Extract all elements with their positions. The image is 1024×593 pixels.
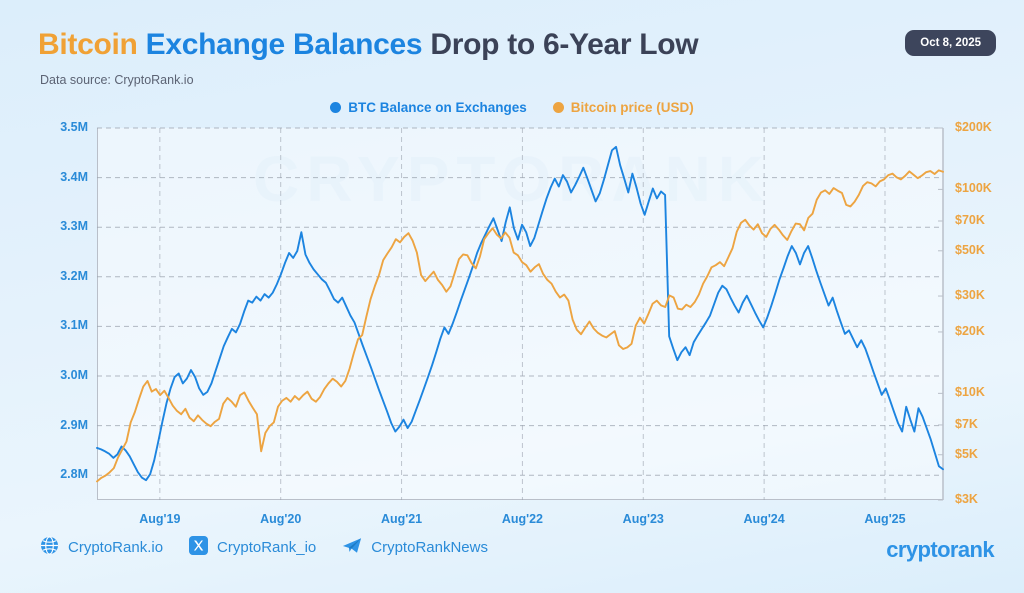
y-axis-right-tick: $5K	[955, 447, 978, 461]
y-axis-right-tick: $70K	[955, 213, 985, 227]
y-axis-right-tick: $20K	[955, 324, 985, 338]
chart-area: CRYPTORANK 2.8M2.9M3.0M3.1M3.2M3.3M3.4M3…	[0, 0, 1024, 593]
footer-link-telegram[interactable]: CryptoRankNews	[342, 536, 488, 559]
telegram-icon	[342, 536, 362, 559]
x-axis-tick: Aug'20	[236, 512, 326, 526]
y-axis-left-tick: 2.8M	[30, 467, 88, 481]
series-lines	[97, 147, 943, 482]
y-axis-right-tick: $50K	[955, 243, 985, 257]
series-line-bitcoin-price	[97, 170, 943, 481]
y-axis-right-tick: $3K	[955, 492, 978, 506]
y-axis-left-tick: 3.3M	[30, 219, 88, 233]
x-axis-tick: Aug'23	[598, 512, 688, 526]
x-axis-tick: Aug'25	[840, 512, 930, 526]
y-axis-right-tick: $7K	[955, 417, 978, 431]
footer-link-website[interactable]: CryptoRank.io	[40, 536, 163, 559]
y-axis-left-tick: 3.0M	[30, 368, 88, 382]
x-axis-tick: Aug'19	[115, 512, 205, 526]
y-axis-left-tick: 3.1M	[30, 318, 88, 332]
y-axis-left-tick: 3.4M	[30, 170, 88, 184]
x-axis-tick: Aug'24	[719, 512, 809, 526]
footer-link-twitter[interactable]: CryptoRank_io	[189, 536, 316, 559]
infographic-card: Bitcoin Exchange Balances Drop to 6-Year…	[0, 0, 1024, 593]
footer-links: CryptoRank.io CryptoRank_io CryptoRankNe…	[40, 536, 488, 559]
gridlines	[97, 128, 943, 500]
x-axis-tick: Aug'21	[357, 512, 447, 526]
footer-label-telegram: CryptoRankNews	[371, 539, 488, 556]
y-axis-right-tick: $100K	[955, 181, 992, 195]
y-axis-left-tick: 3.2M	[30, 269, 88, 283]
y-axis-right-tick: $30K	[955, 288, 985, 302]
footer-label-website: CryptoRank.io	[68, 539, 163, 556]
cryptorank-logo: cryptorank	[886, 537, 994, 563]
globe-icon	[40, 536, 59, 559]
y-axis-left-tick: 2.9M	[30, 418, 88, 432]
x-axis-tick: Aug'22	[477, 512, 567, 526]
y-axis-right-tick: $200K	[955, 120, 992, 134]
series-line-btc-balance	[97, 147, 943, 480]
footer-label-twitter: CryptoRank_io	[217, 539, 316, 556]
y-axis-left-tick: 3.5M	[30, 120, 88, 134]
chart-svg	[0, 0, 1024, 593]
y-axis-right-tick: $10K	[955, 385, 985, 399]
x-twitter-icon	[189, 536, 208, 559]
